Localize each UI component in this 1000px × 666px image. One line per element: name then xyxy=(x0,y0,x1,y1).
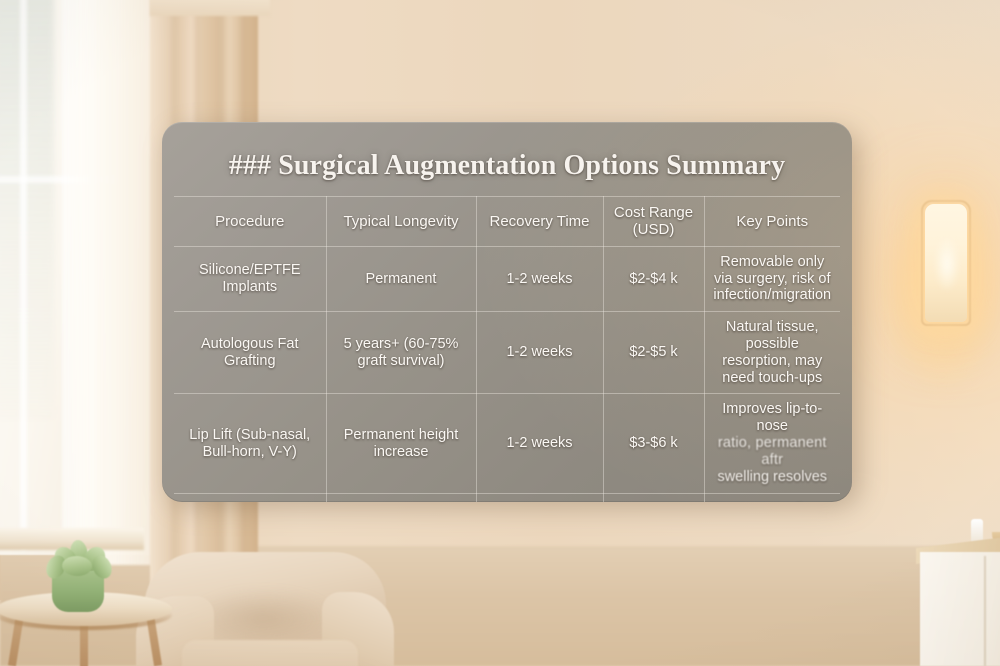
column-header-cost: Cost Range (USD) xyxy=(603,197,704,247)
page-title: ### Surgical Augmentation Options Summar… xyxy=(162,122,852,196)
cell-recovery: 1-2 weeks xyxy=(476,246,603,311)
key-points-line: Temporarily relaxes xyxy=(735,501,810,502)
cell-longevity: Permanent height increase xyxy=(326,394,476,493)
cell-cost: $2-$4 k xyxy=(603,246,704,311)
column-header-procedure: Procedure xyxy=(174,197,326,247)
cell-procedure: Lip Lift (Sub-nasal, Bull-horn, V-Y) xyxy=(174,394,326,493)
curtain-rod xyxy=(150,0,270,16)
cell-longevity: 6-8 weeks xyxy=(326,493,476,502)
column-header-recovery: Recovery Time xyxy=(476,197,603,247)
cell-procedure: Lip Flip (Botox) xyxy=(174,493,326,502)
table-row: Autologous Fat Grafting 5 years+ (60-75%… xyxy=(174,312,840,394)
cell-recovery: 1-2 weeks xyxy=(476,394,603,493)
key-points-line-blurred: ratio, permanent aftr xyxy=(718,435,827,468)
table-body: Silicone/EPTFE Implants Permanent 1-2 we… xyxy=(174,246,840,502)
cell-key-points: Removable only via surgery, risk of infe… xyxy=(704,246,840,311)
cell-key-points: Natural tissue, possible resorption, may… xyxy=(704,312,840,394)
cell-key-points: Improves lip-to-nose ratio, permanent af… xyxy=(704,394,840,493)
cell-procedure: Autologous Fat Grafting xyxy=(174,312,326,394)
cell-key-points: Temporarily relaxes orbicularis oris fa … xyxy=(704,493,840,502)
summary-table: Procedure Typical Longevity Recovery Tim… xyxy=(174,196,840,502)
chair-seat xyxy=(182,640,358,666)
cell-longevity: 5 years+ (60-75% graft survival) xyxy=(326,312,476,394)
plant-pot xyxy=(52,572,104,612)
key-points-line: Improves lip-to-nose xyxy=(722,401,822,434)
column-header-longevity: Typical Longevity xyxy=(326,197,476,247)
cabinet-door-seam xyxy=(984,556,986,666)
cell-longevity: Permanent xyxy=(326,246,476,311)
armchair xyxy=(136,548,392,666)
cabinet xyxy=(920,552,1000,666)
table-row: Lip Flip (Botox) 6-8 weeks Minimal (no d… xyxy=(174,493,840,502)
table-row: Silicone/EPTFE Implants Permanent 1-2 we… xyxy=(174,246,840,311)
cell-cost: $150-$300 xyxy=(603,493,704,502)
table-row: Lip Lift (Sub-nasal, Bull-horn, V-Y) Per… xyxy=(174,394,840,493)
column-header-key-points: Key Points xyxy=(704,197,840,247)
cell-procedure: Silicone/EPTFE Implants xyxy=(174,246,326,311)
window-mullion-vertical xyxy=(20,0,27,550)
table-header-row: Procedure Typical Longevity Recovery Tim… xyxy=(174,197,840,247)
cell-cost: $2-$5 k xyxy=(603,312,704,394)
cell-recovery: Minimal (no downtime) xyxy=(476,493,603,502)
summary-panel: ### Surgical Augmentation Options Summar… xyxy=(162,122,852,502)
cell-cost: $3-$6 k xyxy=(603,394,704,493)
sconce-bulb xyxy=(934,236,960,292)
cell-recovery: 1-2 weeks xyxy=(476,312,603,394)
window-glass xyxy=(0,0,54,420)
key-points-line: swelling resolves xyxy=(717,469,827,485)
table-header: Procedure Typical Longevity Recovery Tim… xyxy=(174,197,840,247)
